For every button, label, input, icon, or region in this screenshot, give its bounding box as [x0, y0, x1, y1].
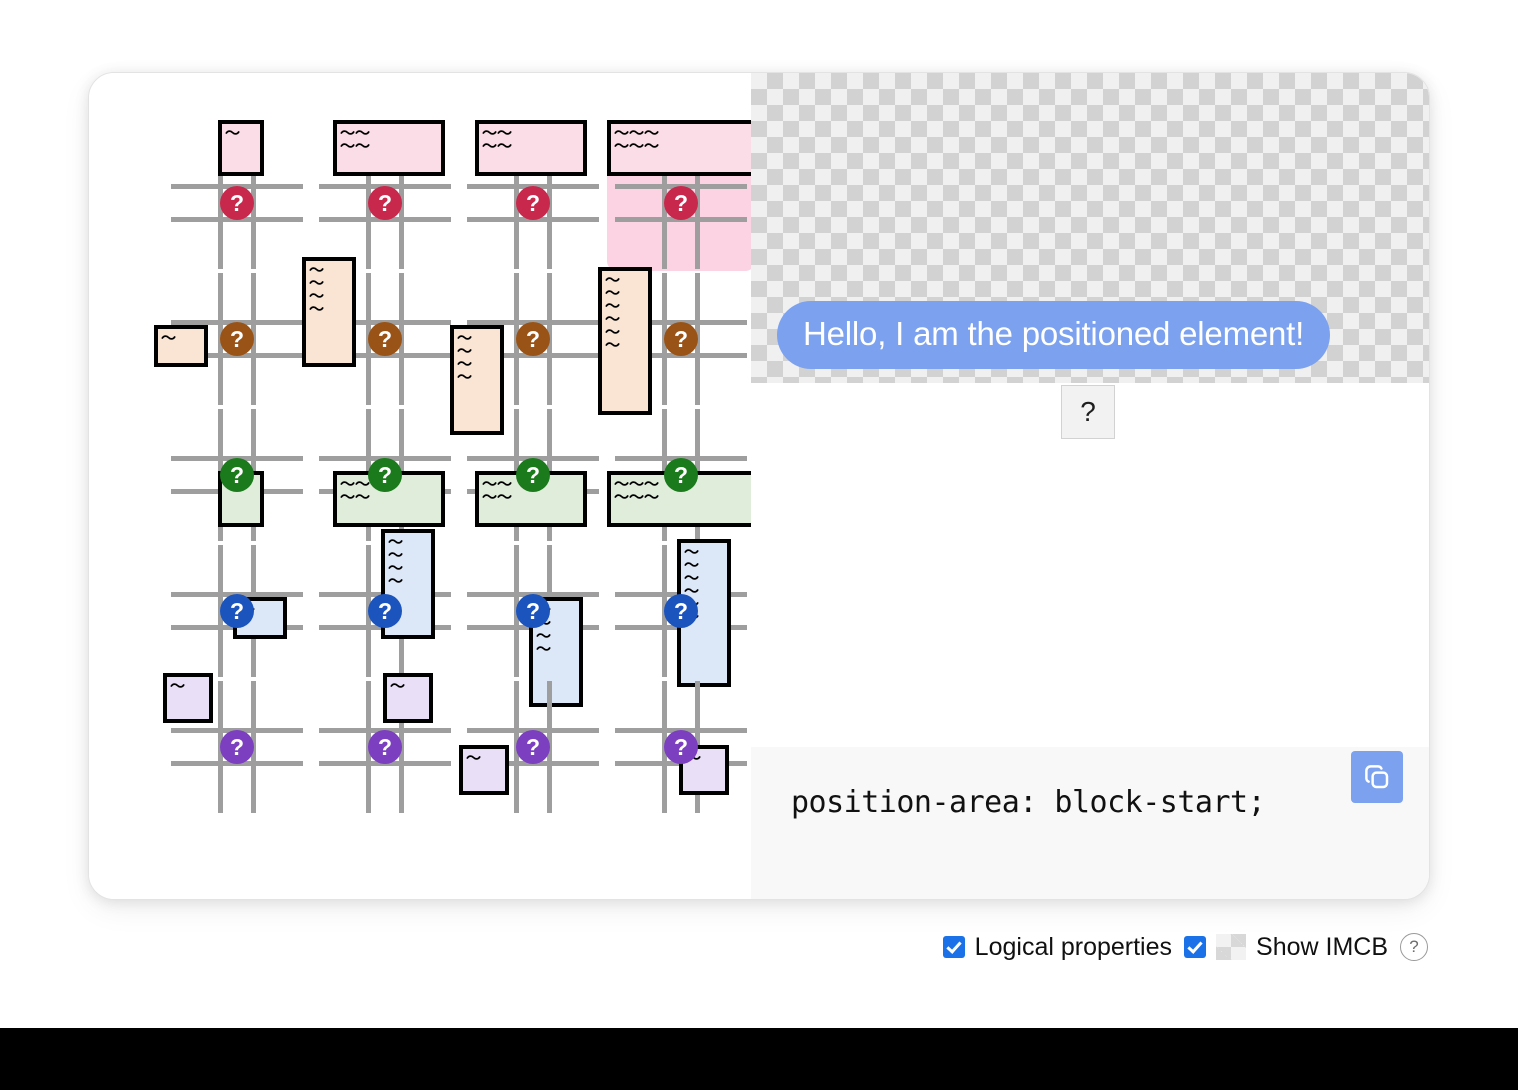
squiggle-text: 〜〜: [340, 140, 438, 153]
squiggle-text: 〜: [536, 643, 576, 656]
position-area-diagram: 〜〜〜〜?: [335, 289, 435, 389]
screen-bottom-bar: [0, 1028, 1518, 1090]
positioned-box-preview: 〜〜〜〜〜〜: [607, 120, 755, 176]
anchor-dot-icon: ?: [664, 594, 698, 628]
copy-icon: [1362, 762, 1392, 792]
position-area-grid[interactable]: 〜?〜〜〜〜?〜〜〜〜?〜〜〜〜〜〜?〜?〜〜〜〜?〜〜〜〜?〜〜〜〜〜〜?〜?…: [163, 135, 755, 815]
anchor-dot-icon: ?: [664, 458, 698, 492]
checkerboard-swatch-icon: [1216, 934, 1246, 960]
anchor-dot-icon: ?: [368, 458, 402, 492]
anchor-dot-icon: ?: [664, 322, 698, 356]
position-area-diagram: 〜?: [631, 697, 731, 797]
squiggle-text: 〜: [161, 332, 201, 345]
squiggle-text: 〜〜: [482, 491, 580, 504]
position-area-option[interactable]: 〜?: [607, 679, 755, 815]
position-area-diagram: 〜〜〜〜?: [483, 561, 583, 661]
anchor-dot-icon: ?: [516, 322, 550, 356]
squiggle-text: 〜: [390, 680, 426, 693]
position-area-option[interactable]: 〜〜〜〜〜〜?: [607, 543, 755, 679]
positioned-box-preview: 〜: [459, 745, 509, 795]
show-imcb-control[interactable]: Show IMCB: [1184, 933, 1388, 962]
css-declaration: position-area: block-start;: [791, 785, 1265, 820]
anchor-dot-icon: ?: [220, 594, 254, 628]
anchor-dot-icon: ?: [664, 730, 698, 764]
position-area-picker-panel: 〜?〜〜〜〜?〜〜〜〜?〜〜〜〜〜〜?〜?〜〜〜〜?〜〜〜〜?〜〜〜〜〜〜?〜?…: [89, 73, 751, 899]
position-area-option[interactable]: 〜?: [311, 679, 459, 815]
position-area-option[interactable]: 〜〜〜〜?: [459, 271, 607, 407]
position-area-option[interactable]: 〜?: [163, 271, 311, 407]
position-area-option[interactable]: 〜〜〜〜〜〜?: [607, 271, 755, 407]
position-area-option[interactable]: 〜〜〜〜?: [311, 407, 459, 543]
anchor-dot-icon: ?: [368, 322, 402, 356]
logical-properties-checkbox[interactable]: [943, 936, 965, 958]
position-area-option[interactable]: 〜?: [163, 135, 311, 271]
anchor-dot-icon: ?: [664, 186, 698, 220]
position-area-option[interactable]: 〜〜〜〜?: [459, 135, 607, 271]
position-area-option[interactable]: 〜〜〜〜?: [459, 407, 607, 543]
copy-button[interactable]: [1351, 751, 1403, 803]
positioned-box-preview: 〜〜〜〜: [333, 120, 445, 176]
position-area-diagram: 〜?: [335, 697, 435, 797]
position-area-option[interactable]: 〜?: [163, 543, 311, 679]
squiggle-text: 〜: [388, 575, 428, 588]
anchor-dot-icon: ?: [220, 730, 254, 764]
position-area-diagram: 〜〜〜〜?: [335, 153, 435, 253]
position-area-option[interactable]: 〜〜〜〜?: [459, 543, 607, 679]
positioned-element: Hello, I am the positioned element!: [777, 301, 1330, 369]
show-imcb-label: Show IMCB: [1256, 933, 1388, 962]
show-imcb-checkbox[interactable]: [1184, 936, 1206, 958]
positioned-box-preview: 〜: [154, 325, 208, 367]
position-area-diagram: 〜〜〜〜?: [483, 153, 583, 253]
position-area-diagram: 〜?: [187, 425, 287, 525]
position-area-diagram: 〜〜〜〜〜〜?: [631, 561, 731, 661]
positioned-box-preview: 〜: [218, 120, 264, 176]
squiggle-text: 〜: [225, 127, 257, 140]
preview-and-code-panel: Hello, I am the positioned element! ? po…: [751, 73, 1429, 899]
code-panel: position-area: block-start;: [751, 747, 1429, 899]
positioned-box-preview: 〜: [163, 673, 213, 723]
position-area-diagram: 〜〜〜〜〜〜?: [631, 425, 731, 525]
squiggle-text: 〜: [605, 339, 645, 352]
anchor-dot-icon: ?: [516, 186, 550, 220]
positioned-box-preview: 〜〜〜〜: [302, 257, 356, 367]
position-area-option[interactable]: 〜〜〜〜〜〜?: [607, 407, 755, 543]
position-area-diagram: 〜〜〜〜?: [483, 289, 583, 389]
position-area-diagram: 〜?: [187, 289, 287, 389]
positioned-box-preview: 〜: [383, 673, 433, 723]
anchor-dot-icon: ?: [368, 186, 402, 220]
positioned-box-preview: 〜〜〜〜〜〜: [598, 267, 652, 415]
position-area-diagram: 〜〜〜〜?: [335, 425, 435, 525]
positioned-box-preview: 〜〜〜〜: [475, 120, 587, 176]
position-area-diagram: 〜〜〜〜?: [483, 425, 583, 525]
anchor-dot-icon: ?: [368, 594, 402, 628]
position-area-diagram: 〜?: [483, 697, 583, 797]
position-area-diagram: 〜〜〜〜?: [335, 561, 435, 661]
squiggle-text: 〜: [457, 371, 497, 384]
position-area-tool-card: 〜?〜〜〜〜?〜〜〜〜?〜〜〜〜〜〜?〜?〜〜〜〜?〜〜〜〜?〜〜〜〜〜〜?〜?…: [88, 72, 1430, 900]
position-area-diagram: 〜?: [187, 153, 287, 253]
squiggle-text: 〜〜〜: [614, 140, 748, 153]
position-area-option[interactable]: 〜?: [163, 407, 311, 543]
anchor-dot-icon: ?: [220, 322, 254, 356]
logical-properties-label: Logical properties: [975, 933, 1172, 962]
position-area-option[interactable]: 〜?: [163, 679, 311, 815]
position-area-diagram: 〜〜〜〜〜〜?: [631, 153, 731, 253]
help-icon[interactable]: ?: [1400, 933, 1428, 961]
preview-area: Hello, I am the positioned element!: [751, 73, 1429, 383]
anchor-dot-icon: ?: [368, 730, 402, 764]
anchor-dot-icon: ?: [220, 458, 254, 492]
anchor-dot-icon: ?: [516, 458, 550, 492]
squiggle-text: 〜: [466, 752, 502, 765]
squiggle-text: 〜〜: [482, 140, 580, 153]
logical-properties-control[interactable]: Logical properties: [943, 933, 1172, 962]
position-area-option[interactable]: 〜〜〜〜?: [311, 271, 459, 407]
anchor-dot-icon: ?: [516, 730, 550, 764]
position-area-diagram: 〜〜〜〜〜〜?: [631, 289, 731, 389]
squiggle-text: 〜〜〜: [614, 491, 748, 504]
position-area-option[interactable]: 〜〜〜〜?: [311, 135, 459, 271]
anchor-dot-icon: ?: [516, 594, 550, 628]
position-area-option[interactable]: 〜?: [459, 679, 607, 815]
position-area-diagram: 〜?: [187, 697, 287, 797]
squiggle-text: 〜: [170, 680, 206, 693]
anchor-dot-icon: ?: [220, 186, 254, 220]
position-area-option[interactable]: 〜〜〜〜〜〜?: [607, 135, 755, 271]
footer-controls: Logical properties Show IMCB ?: [88, 920, 1428, 974]
anchor-element[interactable]: ?: [1061, 385, 1115, 439]
squiggle-text: 〜: [309, 303, 349, 316]
squiggle-text: 〜〜: [340, 491, 438, 504]
position-area-option[interactable]: 〜〜〜〜?: [311, 543, 459, 679]
position-area-diagram: 〜?: [187, 561, 287, 661]
